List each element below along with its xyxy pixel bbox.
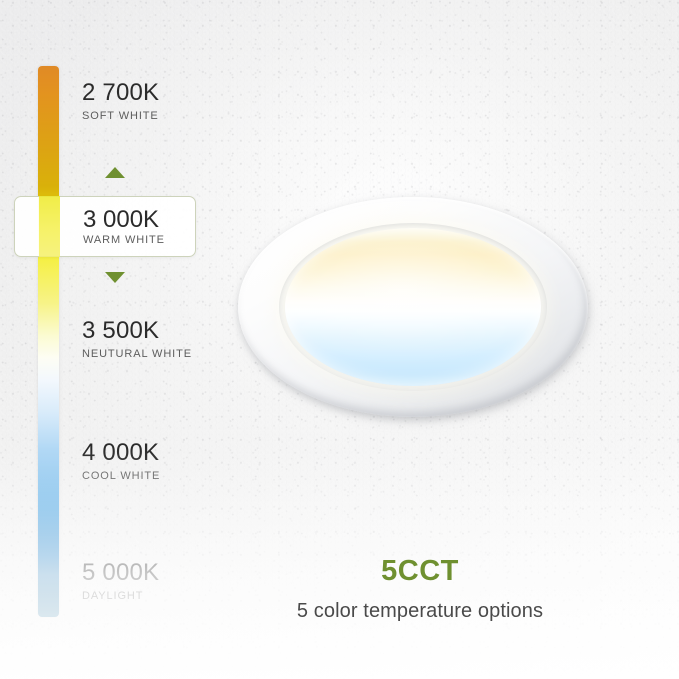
cct-step-5000k[interactable]: 5 000K DAYLIGHT — [82, 560, 159, 602]
cct-step-3000k-selected[interactable]: 3 000K WARM WHITE — [14, 196, 196, 257]
cct-step-kelvin: 5 000K — [82, 560, 159, 585]
cct-step-kelvin: 2 700K — [82, 80, 159, 105]
caption-block: 5CCT 5 color temperature options — [240, 556, 600, 623]
arrow-down-icon[interactable] — [105, 272, 125, 283]
cct-step-name: DAYLIGHT — [82, 590, 159, 602]
cct-step-name: SOFT WHITE — [82, 110, 159, 122]
caption-title: 5CCT — [240, 556, 600, 588]
cct-step-4000k[interactable]: 4 000K COOL WHITE — [82, 440, 160, 482]
cct-step-2700k[interactable]: 2 700K SOFT WHITE — [82, 80, 159, 122]
led-downlight-fixture — [238, 197, 590, 421]
caption-subtitle: 5 color temperature options — [240, 600, 600, 623]
cct-step-kelvin: 3 500K — [82, 318, 192, 343]
fixture-lens-glow — [285, 228, 541, 386]
cct-step-name: WARM WHITE — [83, 234, 165, 246]
color-temperature-gradient-bar — [38, 66, 59, 617]
cct-step-kelvin: 3 000K — [83, 206, 159, 234]
gradient-bar-window — [39, 196, 60, 257]
cct-step-3500k[interactable]: 3 500K NEUTURAL WHITE — [82, 318, 192, 360]
cct-step-name: COOL WHITE — [82, 470, 160, 482]
cct-step-name: NEUTURAL WHITE — [82, 348, 192, 360]
arrow-up-icon[interactable] — [105, 167, 125, 178]
product-feature-scene: 2 700K SOFT WHITE 3 000K WARM WHITE 3 50… — [0, 0, 679, 679]
cct-step-kelvin: 4 000K — [82, 440, 160, 465]
